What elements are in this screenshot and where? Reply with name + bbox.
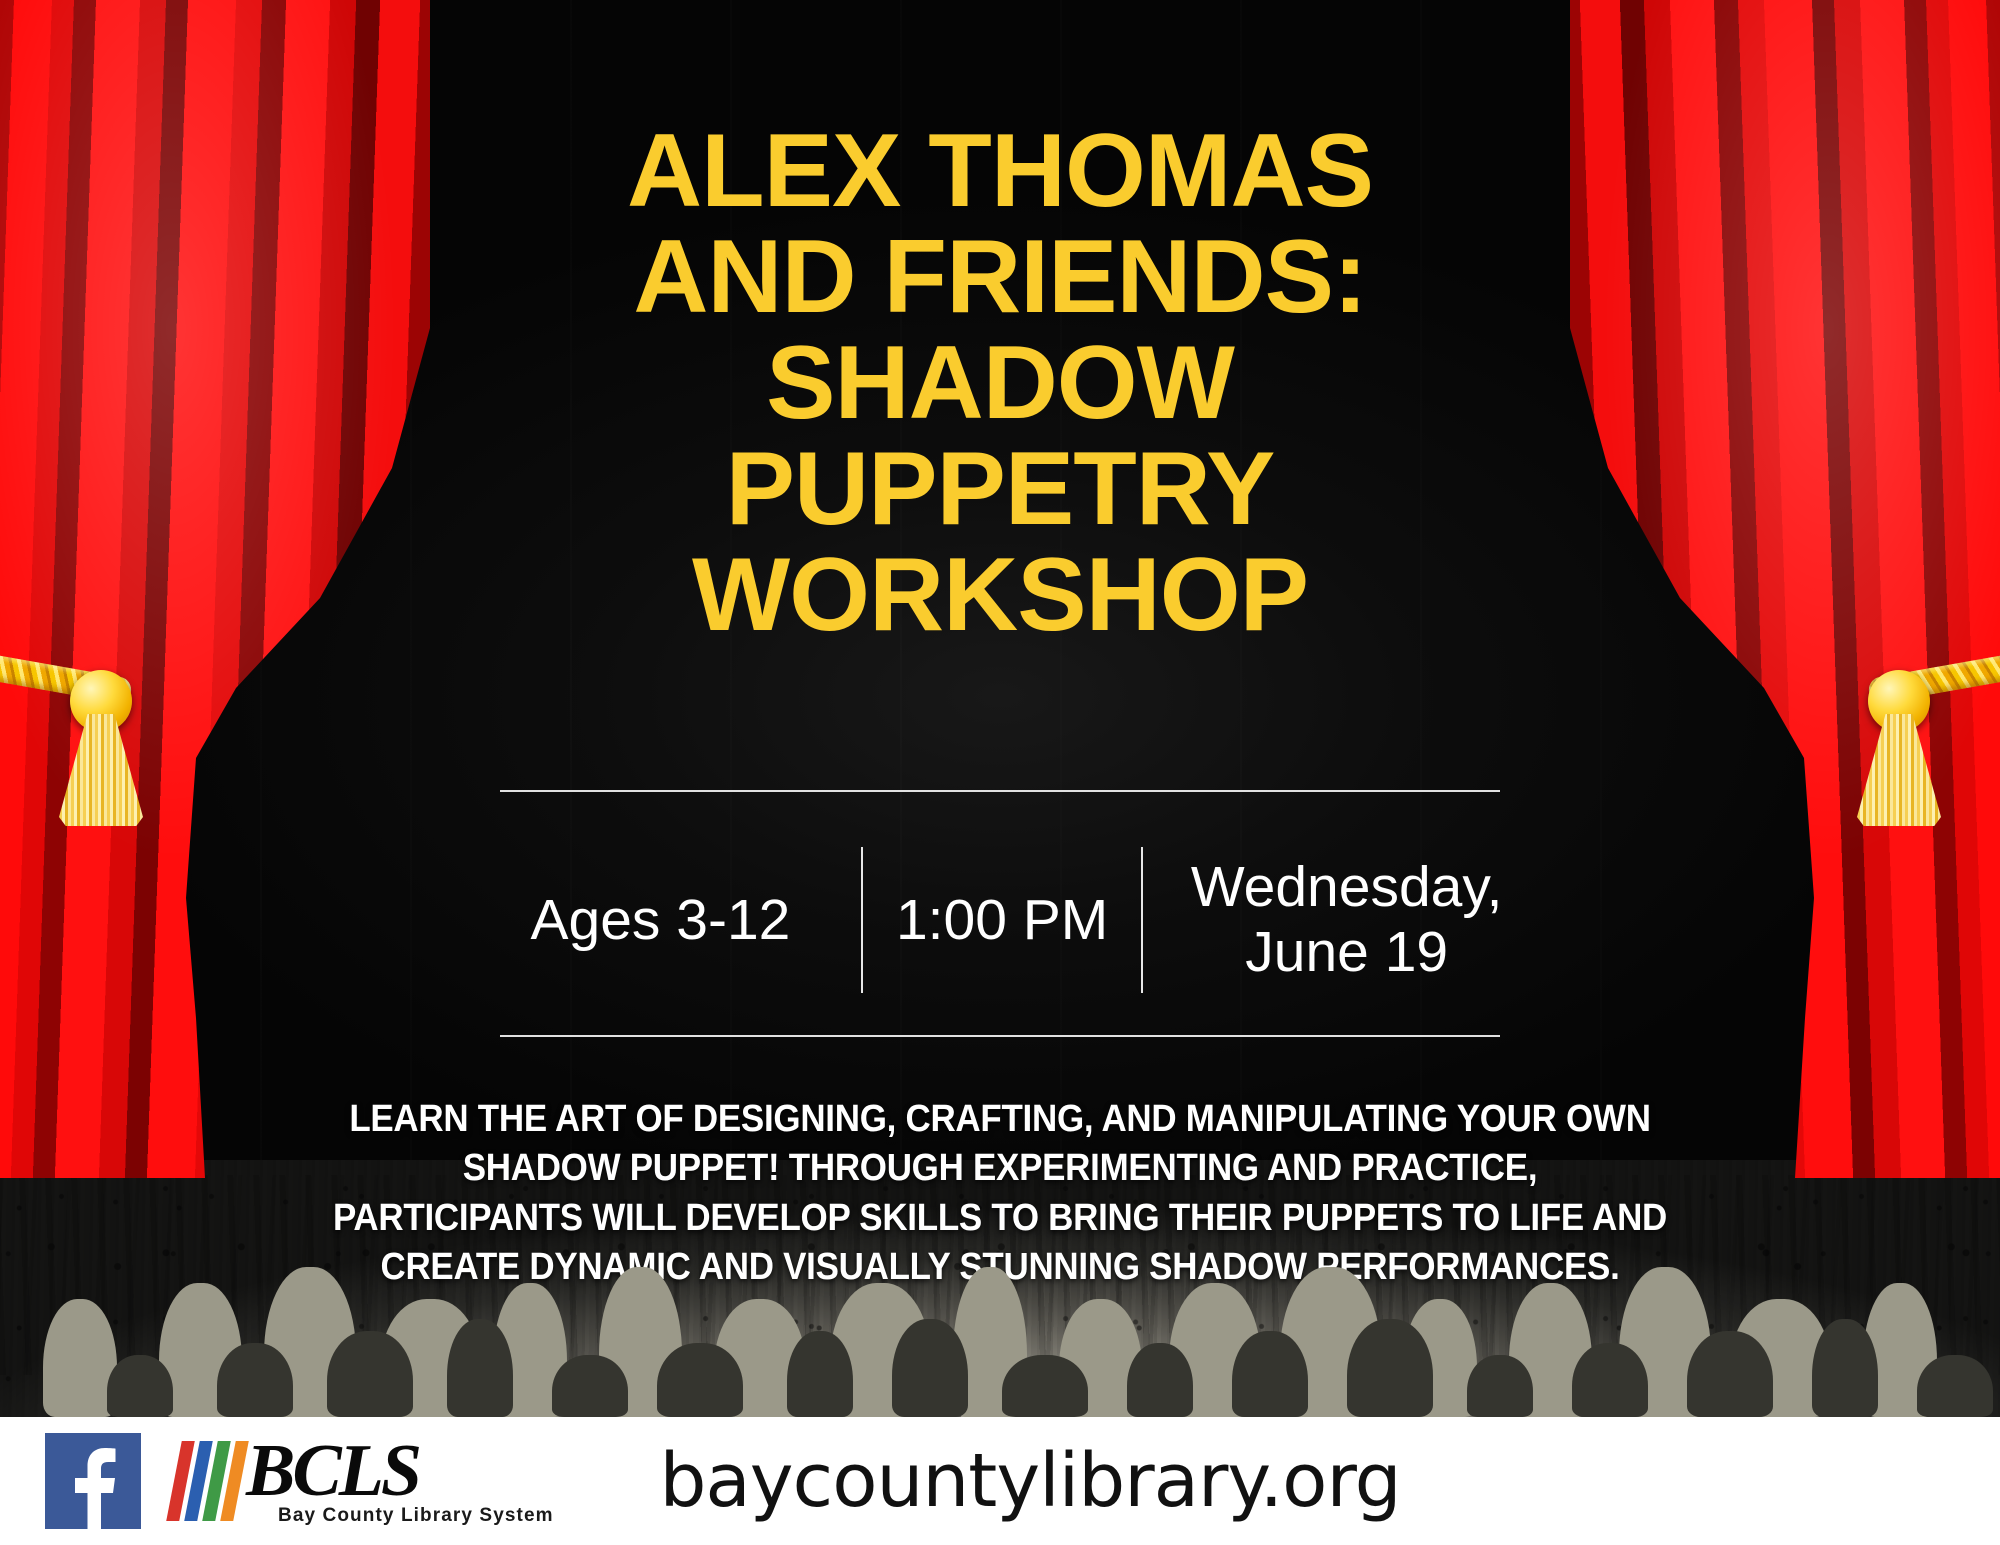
divider-rule-bottom — [500, 1035, 1500, 1037]
detail-ages: Ages 3-12 — [460, 830, 861, 1010]
description-line-1: LEARN THE ART OF DESIGNING, CRAFTING, AN… — [310, 1095, 1690, 1144]
title-line-3: SHADOW — [390, 330, 1610, 436]
audience-figure-front — [327, 1331, 413, 1417]
title-line-4: PUPPETRY — [390, 436, 1610, 542]
curtain-tassel-right — [1857, 714, 1941, 826]
divider-rule-top — [500, 790, 1500, 792]
bcls-subtitle: Bay County Library System — [278, 1505, 554, 1527]
audience-figure-front — [1572, 1343, 1648, 1417]
audience-figure-front — [657, 1343, 743, 1417]
description-line-2: SHADOW PUPPET! THROUGH EXPERIMENTING AND… — [310, 1144, 1690, 1193]
audience-figure-front — [1232, 1331, 1308, 1417]
event-poster: ALEX THOMAS AND FRIENDS: SHADOW PUPPETRY… — [0, 0, 2000, 1545]
audience-figure-front — [787, 1331, 853, 1417]
audience-figure-front — [892, 1319, 968, 1417]
audience-figure-back — [43, 1299, 117, 1417]
title-line-1: ALEX THOMAS — [390, 118, 1610, 224]
bcls-logo: BCLS Bay County Library System — [172, 1437, 482, 1531]
poster-footer: baycountylibrary.org BCLS Bay County Lib… — [0, 1417, 2000, 1545]
curtain-tieback-left — [0, 640, 220, 840]
audience-figure-front — [1002, 1355, 1088, 1417]
title-line-5: WORKSHOP — [390, 542, 1610, 648]
curtain-tassel-left — [59, 714, 143, 826]
audience-figure-front — [1127, 1343, 1193, 1417]
poster-title: ALEX THOMAS AND FRIENDS: SHADOW PUPPETRY… — [390, 118, 1610, 648]
audience-figure-front — [1467, 1355, 1533, 1417]
audience-figure-front — [1687, 1331, 1773, 1417]
bcls-color-bars — [172, 1441, 246, 1521]
audience-silhouettes — [0, 1257, 2000, 1417]
audience-figure-front — [1347, 1319, 1433, 1417]
description-line-3: PARTICIPANTS WILL DEVELOP SKILLS TO BRIN… — [310, 1194, 1690, 1243]
detail-time: 1:00 PM — [863, 830, 1142, 1010]
bcls-wordmark: BCLS — [246, 1429, 419, 1514]
curtain-tieback-right — [1780, 640, 2000, 840]
audience-figure-front — [107, 1355, 173, 1417]
detail-date: Wednesday, June 19 — [1143, 830, 1550, 1010]
title-line-2: AND FRIENDS: — [390, 224, 1610, 330]
facebook-icon[interactable] — [45, 1433, 141, 1529]
audience-figure-front — [1917, 1355, 1993, 1417]
audience-figure-front — [217, 1343, 293, 1417]
audience-figure-front — [552, 1355, 628, 1417]
event-details-row: Ages 3-12 1:00 PM Wednesday, June 19 — [460, 830, 1550, 1010]
audience-figure-front — [1812, 1319, 1878, 1417]
audience-figure-front — [447, 1319, 513, 1417]
